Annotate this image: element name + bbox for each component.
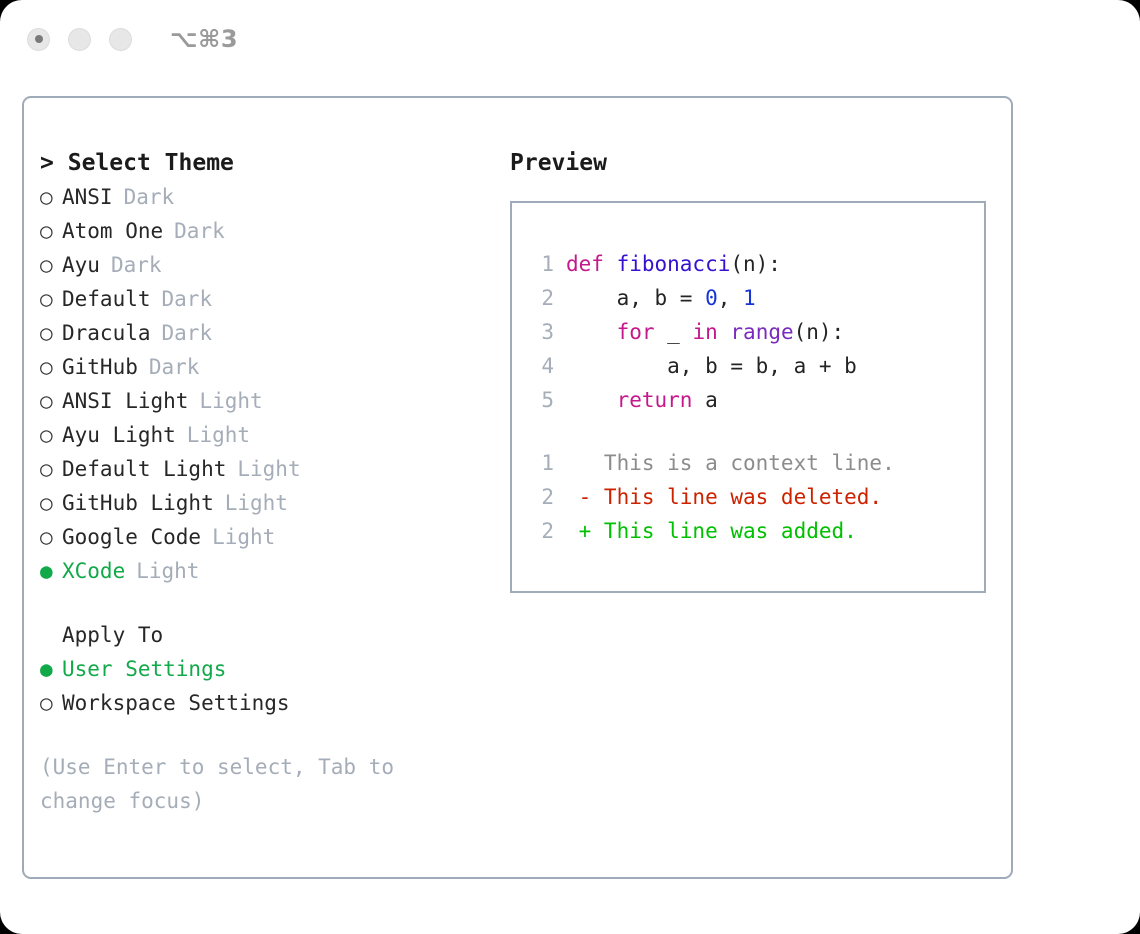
radio-unselected-icon[interactable]: ○	[40, 686, 62, 720]
theme-list-item[interactable]: ○Atom OneDark	[40, 214, 502, 248]
radio-unselected-icon[interactable]: ○	[40, 180, 62, 214]
code-token-kw: return	[617, 388, 693, 412]
theme-list-item[interactable]: ○DefaultDark	[40, 282, 502, 316]
theme-list-item[interactable]: ○Google CodeLight	[40, 520, 502, 554]
radio-selected-icon[interactable]: ●	[40, 554, 62, 588]
line-number: 3	[528, 315, 554, 349]
theme-name-label: Ayu Light	[62, 418, 176, 452]
theme-kind-label: Dark	[124, 180, 175, 214]
active-dot-icon	[35, 35, 43, 43]
theme-kind-label: Light	[199, 384, 262, 418]
theme-name-label: GitHub Light	[62, 486, 214, 520]
code-token-kw: def	[566, 252, 617, 276]
code-line-row: 2 a, b = 0, 1	[528, 281, 984, 315]
code-line-text: + This line was added.	[566, 514, 857, 548]
theme-name-label: Dracula	[62, 316, 151, 350]
code-token-del: - This line was deleted.	[566, 485, 882, 509]
theme-kind-label: Light	[237, 452, 300, 486]
line-number: 2	[528, 480, 554, 514]
keyboard-shortcut-label: ⌥⌘3	[170, 25, 238, 53]
code-token-plain: a	[692, 388, 717, 412]
code-sample-block: 1def fibonacci(n):2 a, b = 0, 13 for _ i…	[528, 247, 984, 417]
code-token-plain	[566, 320, 617, 344]
code-token-plain	[566, 388, 617, 412]
theme-kind-label: Light	[136, 554, 199, 588]
radio-unselected-icon[interactable]: ○	[40, 520, 62, 554]
code-line-row: 4 a, b = b, a + b	[528, 349, 984, 383]
apply-to-heading: ○ Apply To	[40, 618, 502, 652]
code-token-ctx: This is a context line.	[566, 451, 895, 475]
line-number: 4	[528, 349, 554, 383]
panel-columns: > Select Theme ○ANSIDark○Atom OneDark○Ay…	[24, 98, 1011, 818]
radio-unselected-icon[interactable]: ○	[40, 248, 62, 282]
radio-unselected-icon[interactable]: ○	[40, 452, 62, 486]
code-line-row: 5 return a	[528, 383, 984, 417]
code-line-row: 1def fibonacci(n):	[528, 247, 984, 281]
code-token-num: 1	[743, 286, 756, 310]
radio-unselected-icon[interactable]: ○	[40, 350, 62, 384]
radio-unselected-icon[interactable]: ○	[40, 418, 62, 452]
apply-to-heading-label: Apply To	[62, 618, 163, 652]
code-token-bi: range	[730, 320, 793, 344]
theme-name-label: Atom One	[62, 214, 163, 248]
theme-kind-label: Dark	[162, 282, 213, 316]
radio-unselected-icon[interactable]: ○	[40, 214, 62, 248]
theme-list-item[interactable]: ●XCodeLight	[40, 554, 502, 588]
theme-name-label: Ayu	[62, 248, 100, 282]
theme-list-item[interactable]: ○ANSI LightLight	[40, 384, 502, 418]
radio-unselected-icon[interactable]: ○	[40, 316, 62, 350]
code-line-text: a, b = b, a + b	[566, 349, 857, 383]
window-titlebar: ⌥⌘3	[0, 0, 1140, 78]
code-token-num: 0	[705, 286, 718, 310]
code-token-kw: for	[617, 320, 655, 344]
theme-list: ○ANSIDark○Atom OneDark○AyuDark○DefaultDa…	[40, 180, 502, 588]
theme-list-item[interactable]: ○GitHubDark	[40, 350, 502, 384]
code-token-plain: ,	[718, 286, 743, 310]
preview-box: 1def fibonacci(n):2 a, b = 0, 13 for _ i…	[510, 201, 986, 593]
code-token-add: + This line was added.	[566, 519, 857, 543]
select-theme-heading: > Select Theme	[40, 146, 502, 180]
apply-to-option[interactable]: ●User Settings	[40, 652, 502, 686]
theme-kind-label: Dark	[162, 316, 213, 350]
code-line-text: a, b = 0, 1	[566, 281, 756, 315]
apply-to-option[interactable]: ○Workspace Settings	[40, 686, 502, 720]
theme-kind-label: Dark	[111, 248, 162, 282]
section-spacer	[40, 588, 502, 618]
diff-line-row: 2 + This line was added.	[528, 514, 984, 548]
code-token-plain: (n):	[794, 320, 845, 344]
line-number: 2	[528, 281, 554, 315]
theme-name-label: ANSI	[62, 180, 113, 214]
apply-to-list: ●User Settings○Workspace Settings	[40, 652, 502, 720]
traffic-light-active[interactable]	[27, 28, 50, 51]
apply-to-option-label: Workspace Settings	[62, 686, 290, 720]
code-token-kw: in	[692, 320, 717, 344]
code-line-row: 3 for _ in range(n):	[528, 315, 984, 349]
preview-column: Preview 1def fibonacci(n):2 a, b = 0, 13…	[502, 146, 1011, 818]
theme-list-item[interactable]: ○DraculaDark	[40, 316, 502, 350]
diff-sample-block: 1 This is a context line.2 - This line w…	[528, 446, 984, 548]
select-theme-heading-label: Select Theme	[68, 150, 234, 176]
radio-unselected-icon[interactable]: ○	[40, 282, 62, 316]
code-token-fn: fibonacci	[617, 252, 731, 276]
code-line-text: def fibonacci(n):	[566, 247, 781, 281]
hint-spacer	[40, 720, 502, 750]
line-number: 5	[528, 383, 554, 417]
radio-unselected-icon[interactable]: ○	[40, 384, 62, 418]
apply-to-option-label: User Settings	[62, 652, 226, 686]
theme-name-label: Default Light	[62, 452, 226, 486]
code-token-plain: (n):	[730, 252, 781, 276]
code-line-text: - This line was deleted.	[566, 480, 882, 514]
theme-name-label: Google Code	[62, 520, 201, 554]
code-line-text: return a	[566, 383, 718, 417]
theme-name-label: ANSI Light	[62, 384, 188, 418]
traffic-light-third[interactable]	[109, 28, 132, 51]
radio-selected-icon[interactable]: ●	[40, 652, 62, 686]
theme-list-item[interactable]: ○GitHub LightLight	[40, 486, 502, 520]
apply-to-heading-marker-placeholder: ○	[40, 618, 62, 652]
theme-name-label: Default	[62, 282, 151, 316]
theme-list-item[interactable]: ○AyuDark	[40, 248, 502, 282]
line-number: 2	[528, 514, 554, 548]
code-token-plain: _	[655, 320, 693, 344]
diff-line-row: 2 - This line was deleted.	[528, 480, 984, 514]
theme-name-label: XCode	[62, 554, 125, 588]
theme-kind-label: Light	[187, 418, 250, 452]
code-line-text: This is a context line.	[566, 446, 895, 480]
preview-heading: Preview	[510, 146, 1011, 180]
theme-kind-label: Dark	[149, 350, 200, 384]
traffic-light-second[interactable]	[68, 28, 91, 51]
main-panel: > Select Theme ○ANSIDark○Atom OneDark○Ay…	[22, 96, 1013, 879]
theme-list-item[interactable]: ○ANSIDark	[40, 180, 502, 214]
code-token-plain: a, b = b, a + b	[566, 354, 857, 378]
line-number: 1	[528, 247, 554, 281]
diff-line-row: 1 This is a context line.	[528, 446, 984, 480]
keyboard-hint-text: (Use Enter to select, Tab to change focu…	[40, 750, 440, 818]
theme-list-item[interactable]: ○Default LightLight	[40, 452, 502, 486]
code-token-plain	[718, 320, 731, 344]
theme-selector-column: > Select Theme ○ANSIDark○Atom OneDark○Ay…	[40, 146, 502, 818]
app-window: ⌥⌘3 > Select Theme ○ANSIDark○Atom OneDar…	[0, 0, 1140, 934]
theme-name-label: GitHub	[62, 350, 138, 384]
heading-caret-icon: >	[40, 150, 54, 176]
theme-kind-label: Light	[212, 520, 275, 554]
code-token-plain: a, b =	[566, 286, 705, 310]
diff-spacer	[528, 417, 984, 446]
radio-unselected-icon[interactable]: ○	[40, 486, 62, 520]
theme-kind-label: Light	[225, 486, 288, 520]
code-line-text: for _ in range(n):	[566, 315, 844, 349]
theme-list-item[interactable]: ○Ayu LightLight	[40, 418, 502, 452]
theme-kind-label: Dark	[174, 214, 225, 248]
line-number: 1	[528, 446, 554, 480]
